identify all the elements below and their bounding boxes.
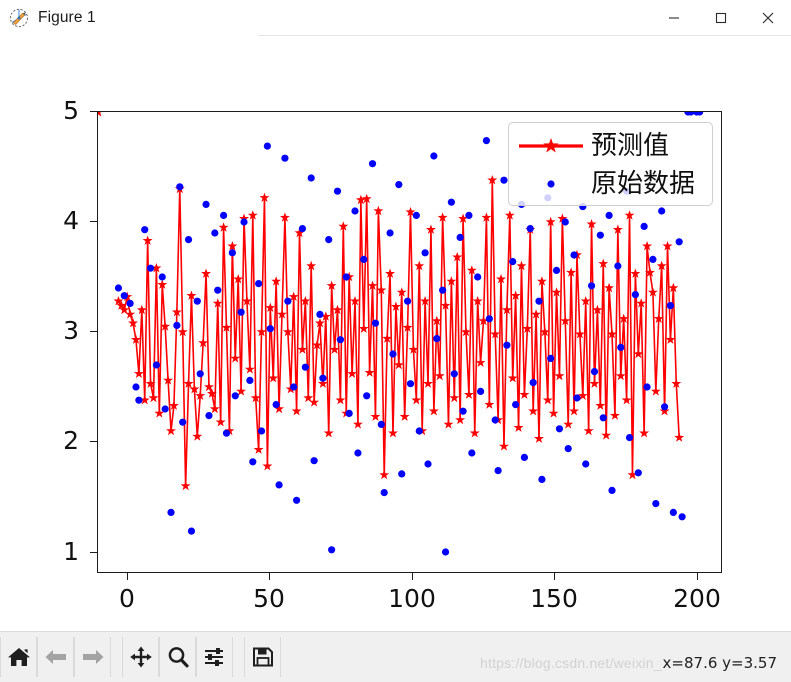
ytick-mark-2 <box>90 441 97 442</box>
xtick-mark-100 <box>412 573 413 580</box>
close-button[interactable] <box>744 0 791 36</box>
pan-button[interactable] <box>122 637 159 677</box>
ytick-label-3: 3 <box>63 318 79 343</box>
titlebar-left-group: Figure 1 <box>0 0 96 36</box>
save-button[interactable] <box>244 637 281 677</box>
xtick-mark-50 <box>269 573 270 580</box>
ytick-mark-4 <box>90 221 97 222</box>
matplotlib-icon <box>9 8 29 28</box>
legend-line-star-icon <box>515 127 587 165</box>
maximize-button[interactable] <box>697 0 744 36</box>
legend-dot-icon <box>515 165 587 203</box>
xtick-mark-200 <box>697 573 698 580</box>
xtick-mark-0 <box>127 573 128 580</box>
xtick-mark-150 <box>554 573 555 580</box>
legend-entry-prediction: 预测值 <box>515 127 704 165</box>
xtick-label-200: 200 <box>673 586 721 611</box>
window-titlebar: Figure 1 <box>0 0 791 36</box>
prediction-line <box>118 180 679 486</box>
ytick-label-1: 1 <box>63 539 79 564</box>
figure-canvas[interactable]: 5 4 3 2 1 0 50 100 150 200 <box>0 36 791 631</box>
window-controls <box>650 0 791 36</box>
ytick-label-5: 5 <box>63 98 79 123</box>
toolbar-separator-1 <box>111 637 122 677</box>
ytick-mark-3 <box>90 331 97 332</box>
window-title: Figure 1 <box>38 9 96 27</box>
ytick-label-2: 2 <box>63 428 79 453</box>
minimize-button[interactable] <box>650 0 697 36</box>
xtick-label-50: 50 <box>253 586 285 611</box>
ytick-label-4: 4 <box>63 208 79 233</box>
toolbar-group-tools <box>122 632 233 682</box>
home-button[interactable] <box>0 637 37 677</box>
titlebar-spacer <box>96 0 650 36</box>
plot-axes[interactable]: 预测值 原始数据 <box>97 111 722 573</box>
legend-entry-original: 原始数据 <box>515 165 704 203</box>
ytick-mark-5 <box>90 111 97 112</box>
zoom-button[interactable] <box>159 637 196 677</box>
toolbar-group-navigation <box>0 632 111 682</box>
back-button[interactable] <box>37 637 74 677</box>
legend-box[interactable]: 预测值 原始数据 <box>508 122 713 206</box>
coordinate-readout: x=87.6 y=3.57 <box>663 654 777 672</box>
forward-button[interactable] <box>74 637 111 677</box>
ytick-mark-1 <box>90 552 97 553</box>
xtick-label-150: 150 <box>530 586 578 611</box>
xtick-label-0: 0 <box>119 586 135 611</box>
xtick-label-100: 100 <box>388 586 436 611</box>
configure-subplots-button[interactable] <box>196 637 233 677</box>
toolbar-separator-2 <box>233 637 244 677</box>
legend-label-original: 原始数据 <box>587 171 695 197</box>
toolbar-group-save <box>244 632 281 682</box>
legend-label-prediction: 预测值 <box>587 133 669 159</box>
